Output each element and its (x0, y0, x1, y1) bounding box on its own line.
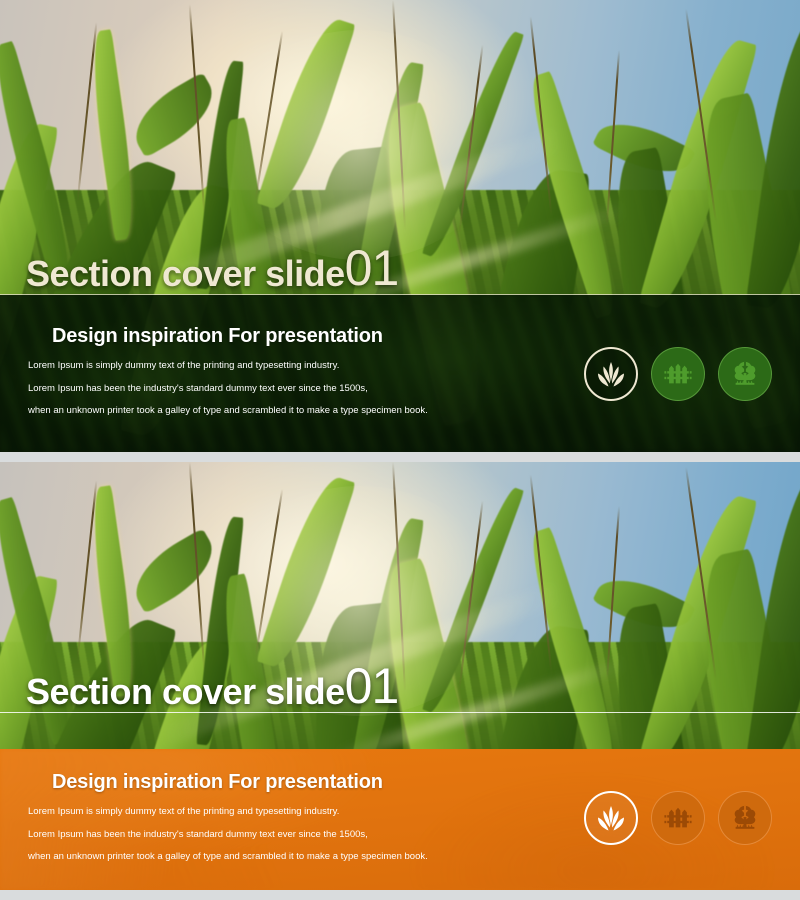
badge-fence[interactable] (651, 791, 705, 845)
panel-headline: Design inspiration For presentation (52, 325, 383, 348)
panel-headline: Design inspiration For presentation (52, 771, 383, 794)
slide-title-text: Section cover slide (26, 674, 345, 710)
slide-title: Section cover slide 01 (0, 244, 800, 292)
panel-body-text: Lorem Ipsum is simply dummy text of the … (28, 361, 428, 416)
leaves-icon (595, 358, 627, 390)
body-line: Lorem Ipsum is simply dummy text of the … (28, 807, 428, 817)
slide-title-text: Section cover slide (26, 256, 345, 292)
slide-title-number: 01 (345, 245, 399, 292)
body-line: Lorem Ipsum has been the industry's stan… (28, 830, 428, 840)
body-line: when an unknown printer took a galley of… (28, 406, 428, 416)
fence-icon (663, 359, 693, 389)
badge-tree[interactable] (718, 791, 772, 845)
slide-title: Section cover slide 01 (0, 662, 800, 710)
leaves-icon (595, 802, 627, 834)
tree-icon (730, 803, 760, 833)
badge-leaves[interactable] (584, 347, 638, 401)
badge-tree[interactable] (718, 347, 772, 401)
title-divider-rule (0, 712, 800, 713)
section-cover-slide-orange[interactable]: Section cover slide 01 Design inspiratio… (0, 462, 800, 890)
body-line: Lorem Ipsum has been the industry's stan… (28, 384, 428, 394)
content-panel-dark: Design inspiration For presentation Lore… (0, 295, 800, 452)
panel-body-text: Lorem Ipsum is simply dummy text of the … (28, 807, 428, 862)
tree-icon (730, 359, 760, 389)
section-cover-slide-dark[interactable]: Section cover slide 01 Design inspiratio… (0, 0, 800, 452)
slide-title-number: 01 (345, 663, 399, 710)
fence-icon (663, 803, 693, 833)
body-line: when an unknown printer took a galley of… (28, 852, 428, 862)
body-line: Lorem Ipsum is simply dummy text of the … (28, 361, 428, 371)
badge-leaves[interactable] (584, 791, 638, 845)
presentation-preview: Section cover slide 01 Design inspiratio… (0, 0, 800, 900)
content-panel-orange: Design inspiration For presentation Lore… (0, 749, 800, 890)
icon-badge-group (584, 791, 772, 845)
icon-badge-group (584, 347, 772, 401)
badge-fence[interactable] (651, 347, 705, 401)
